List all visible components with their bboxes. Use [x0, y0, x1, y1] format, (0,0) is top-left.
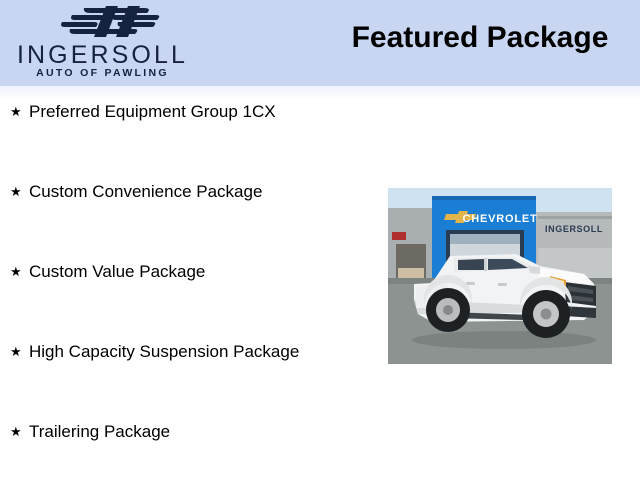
star-bullet-icon: ★ [10, 260, 29, 284]
featured-package-list: ★ Preferred Equipment Group 1CX ★ Custom… [0, 100, 380, 500]
svg-text:CHEVROLET: CHEVROLET [462, 213, 537, 225]
page-header: INGERSOLL AUTO OF PAWLING Featured Packa… [0, 0, 640, 86]
list-item-label: Preferred Equipment Group 1CX [29, 100, 380, 124]
list-item: ★ Custom Value Package [0, 260, 380, 340]
page-title: Featured Package [330, 19, 630, 57]
vehicle-photo: INGERSOLL CHEVROLET [388, 188, 612, 364]
list-item-label: High Capacity Suspension Package [29, 340, 380, 364]
list-item-label: Custom Value Package [29, 260, 380, 284]
list-item: ★ Custom Convenience Package [0, 180, 380, 260]
dealer-brand-logo: INGERSOLL AUTO OF PAWLING [0, 0, 210, 86]
brand-name: INGERSOLL [0, 42, 205, 69]
header-fade-divider [0, 86, 640, 100]
list-item: ★ Trailering Package [0, 420, 380, 500]
brand-tagline: AUTO OF PAWLING [0, 67, 205, 79]
star-bullet-icon: ★ [10, 340, 29, 364]
star-bullet-icon: ★ [10, 180, 29, 204]
list-item-label: Trailering Package [29, 420, 380, 444]
svg-text:INGERSOLL: INGERSOLL [545, 224, 603, 234]
list-item: ★ High Capacity Suspension Package [0, 340, 380, 420]
star-bullet-icon: ★ [10, 420, 29, 444]
list-item-label: Custom Convenience Package [29, 180, 380, 204]
star-bullet-icon: ★ [10, 100, 29, 124]
ingersoll-wing-emblem-icon [48, 4, 166, 42]
list-item: ★ Preferred Equipment Group 1CX [0, 100, 380, 180]
